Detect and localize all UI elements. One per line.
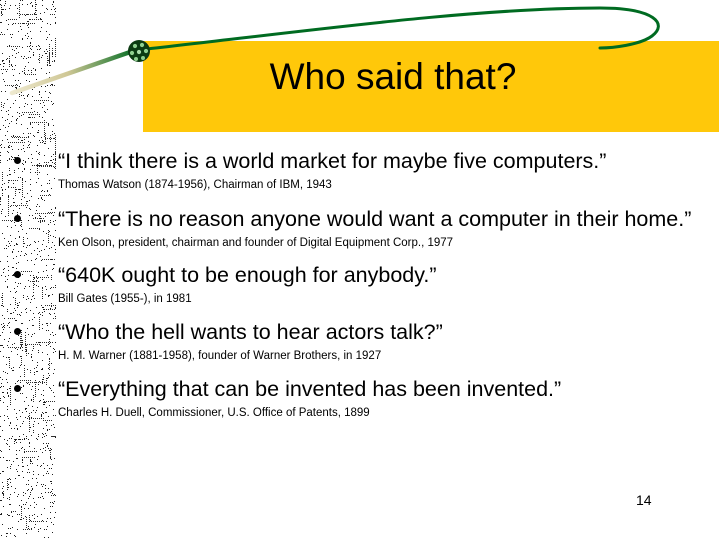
quote-text: “There is no reason anyone would want a … bbox=[58, 204, 711, 234]
list-item: “640K ought to be enough for anybody.” B… bbox=[0, 260, 719, 308]
quote-text: “I think there is a world market for may… bbox=[58, 146, 711, 176]
page-number: 14 bbox=[636, 492, 652, 508]
quote-attribution: Ken Olson, president, chairman and found… bbox=[58, 235, 711, 252]
quote-attribution: Bill Gates (1955-), in 1981 bbox=[58, 291, 711, 308]
quote-attribution: Charles H. Duell, Commissioner, U.S. Off… bbox=[58, 405, 711, 422]
bullet-icon bbox=[14, 328, 21, 335]
bullet-icon bbox=[14, 385, 21, 392]
bullet-icon bbox=[14, 271, 21, 278]
bullet-icon bbox=[14, 157, 21, 164]
quote-attribution: Thomas Watson (1874-1956), Chairman of I… bbox=[58, 177, 711, 194]
list-item: “I think there is a world market for may… bbox=[0, 146, 719, 194]
list-item: “Everything that can be invented has bee… bbox=[0, 374, 719, 422]
quote-text: “640K ought to be enough for anybody.” bbox=[58, 260, 711, 290]
list-item: “Who the hell wants to hear actors talk?… bbox=[0, 317, 719, 365]
quotes-list: “I think there is a world market for may… bbox=[0, 146, 719, 422]
list-item: “There is no reason anyone would want a … bbox=[0, 204, 719, 252]
page-title: Who said that? bbox=[143, 55, 643, 99]
quote-attribution: H. M. Warner (1881-1958), founder of War… bbox=[58, 348, 711, 365]
bullet-icon bbox=[14, 215, 21, 222]
slide-canvas: Who said that? “I think there is a world… bbox=[0, 0, 719, 539]
quote-text: “Who the hell wants to hear actors talk?… bbox=[58, 317, 711, 347]
quote-text: “Everything that can be invented has bee… bbox=[58, 374, 711, 404]
